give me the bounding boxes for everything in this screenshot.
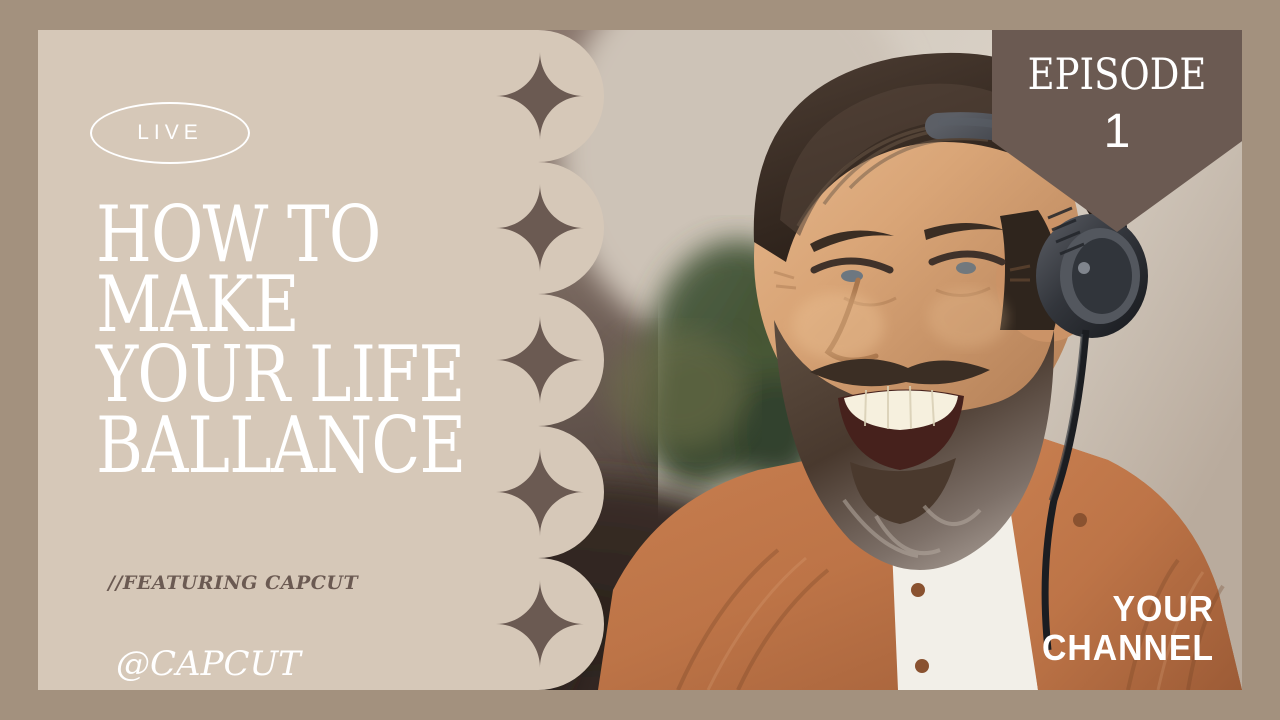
thumbnail-frame: LIVE HOW TO MAKE YOUR LIFE BALLANCE //FE… bbox=[0, 0, 1280, 720]
episode-badge-label: EPISODE bbox=[1010, 54, 1225, 97]
episode-badge-number: 1 bbox=[992, 108, 1242, 156]
content-plate: LIVE HOW TO MAKE YOUR LIFE BALLANCE //FE… bbox=[38, 30, 1242, 690]
headline-line-4: BALLANCE bbox=[96, 411, 449, 481]
page-title: HOW TO MAKE YOUR LIFE BALLANCE bbox=[96, 200, 526, 481]
featuring-credit: //FEATURING CAPCUT bbox=[108, 572, 358, 594]
social-handle: @CAPCUT bbox=[116, 644, 301, 684]
channel-name-lockup: YOUR CHANNEL bbox=[1031, 591, 1214, 666]
channel-name-line-2: CHANNEL bbox=[1042, 630, 1214, 666]
live-badge: LIVE bbox=[90, 102, 250, 164]
channel-name-line-1: YOUR bbox=[1042, 591, 1214, 627]
episode-badge: EPISODE 1 bbox=[992, 30, 1242, 232]
live-badge-label: LIVE bbox=[137, 121, 203, 145]
text-column: LIVE HOW TO MAKE YOUR LIFE BALLANCE //FE… bbox=[38, 30, 508, 690]
